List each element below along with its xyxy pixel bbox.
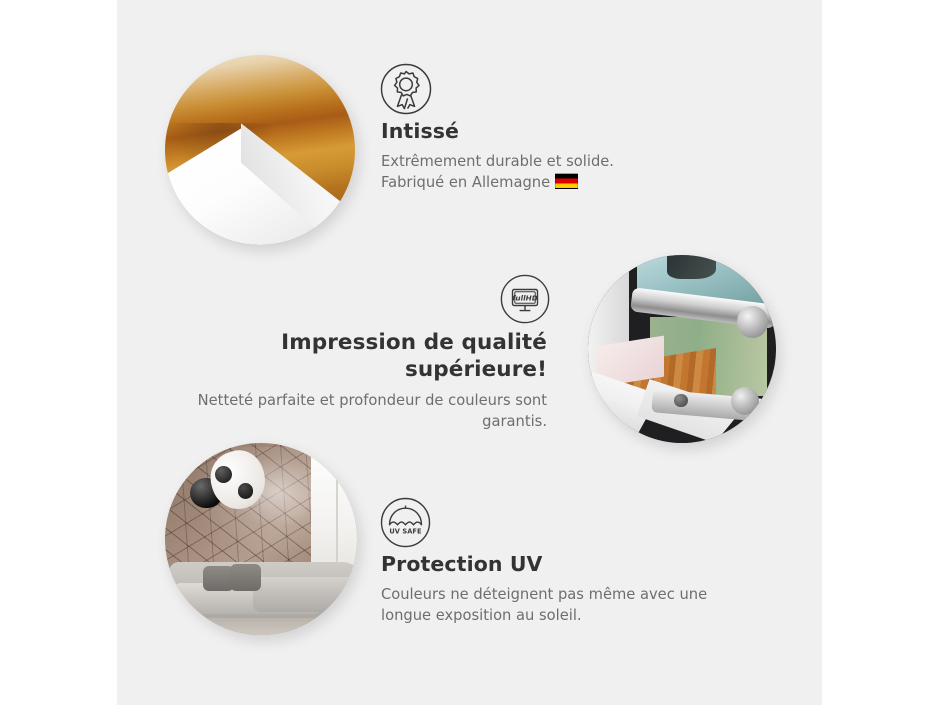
svg-text:UV SAFE: UV SAFE xyxy=(389,528,422,536)
uv-safe-umbrella-icon: UV SAFE xyxy=(380,497,431,548)
living-room-mural-photo xyxy=(165,443,357,635)
feature-body-protection-uv: Couleurs ne déteignent pas même avec une… xyxy=(381,585,726,627)
feature-body-line: longue exposition au soleil. xyxy=(381,606,726,627)
feature-heading-intisse: Intissé xyxy=(381,119,711,145)
peeling-wallpaper-corner-photo xyxy=(165,55,355,245)
feature-heading-protection-uv: Protection UV xyxy=(381,552,726,578)
svg-text:fullHD: fullHD xyxy=(512,293,538,302)
feature-body-line: Netteté parfaite et profondeur de couleu… xyxy=(190,391,547,412)
german-flag-icon xyxy=(555,173,578,189)
feature-text-impression: Impression de qualité supérieure! Nettet… xyxy=(190,330,547,433)
feature-body-line: Extrêmement durable et solide. xyxy=(381,152,711,173)
fullhd-monitor-icon: fullHD xyxy=(500,274,550,324)
infographic-canvas: Intissé Extrêmement durable et solide. F… xyxy=(0,0,940,705)
feature-body-line: Fabriqué en Allemagne xyxy=(381,173,711,194)
feature-body-line: Couleurs ne déteignent pas même avec une xyxy=(381,585,726,606)
feature-heading-impression: Impression de qualité supérieure! xyxy=(190,330,547,384)
printing-press-photo xyxy=(588,255,776,443)
feature-text-intisse: Intissé Extrêmement durable et solide. F… xyxy=(381,119,711,193)
feature-body-intisse: Extrêmement durable et solide. Fabriqué … xyxy=(381,152,711,194)
feature-text-protection-uv: Protection UV Couleurs ne déteignent pas… xyxy=(381,552,726,626)
feature-body-impression: Netteté parfaite et profondeur de couleu… xyxy=(190,391,547,433)
feature-body-line: garantis. xyxy=(190,412,547,433)
award-ribbon-icon xyxy=(380,63,432,115)
